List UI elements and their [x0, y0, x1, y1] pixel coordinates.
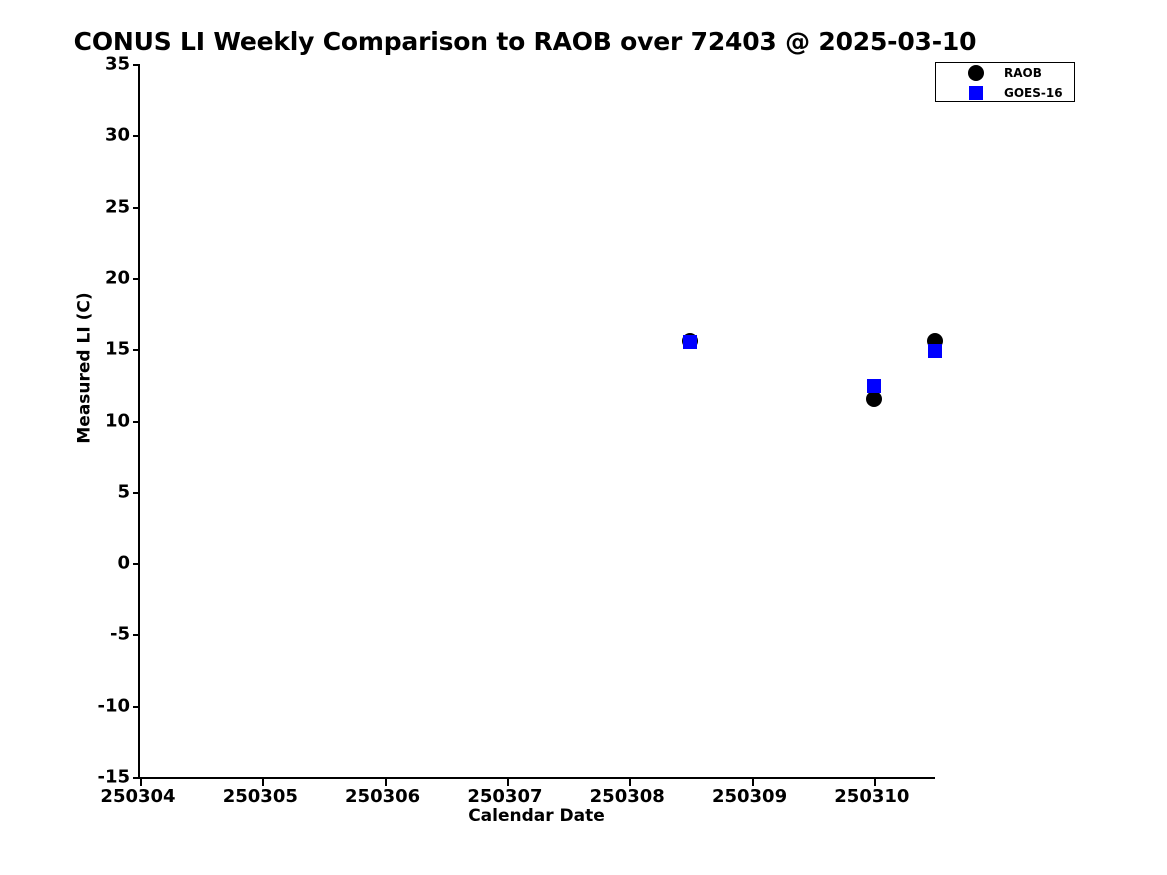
y-axis-tick	[133, 278, 140, 280]
x-axis-tick	[507, 779, 509, 786]
x-axis-tick	[262, 779, 264, 786]
x-axis-tick	[629, 779, 631, 786]
chart-page: CONUS LI Weekly Comparison to RAOB over …	[0, 0, 1167, 875]
y-axis-tick-label: -15	[97, 767, 130, 788]
y-axis-tick-label: 25	[105, 196, 130, 217]
x-axis-tick	[752, 779, 754, 786]
x-axis-tick-label: 250310	[834, 786, 909, 807]
x-axis-tick	[385, 779, 387, 786]
x-axis-tick-label: 250308	[590, 786, 665, 807]
y-axis-tick-label: 30	[105, 125, 130, 146]
x-axis-tick	[874, 779, 876, 786]
y-axis-tick-label: -5	[110, 624, 130, 645]
x-axis-tick-label: 250306	[345, 786, 420, 807]
y-axis-tick	[133, 64, 140, 66]
y-axis-tick	[133, 777, 140, 779]
y-axis-tick	[133, 135, 140, 137]
plot-area	[138, 64, 935, 779]
legend-label: GOES-16	[1004, 86, 1063, 100]
y-axis-tick	[133, 421, 140, 423]
x-axis-tick-label: 250309	[712, 786, 787, 807]
legend-item-raob: RAOB	[936, 63, 1074, 83]
data-point-goes-16	[683, 335, 697, 349]
legend-marker-wrap	[964, 83, 988, 103]
x-axis-tick-label: 250305	[223, 786, 298, 807]
data-point-goes-16	[928, 344, 942, 358]
page-title: CONUS LI Weekly Comparison to RAOB over …	[0, 27, 1050, 56]
data-point-goes-16	[867, 379, 881, 393]
legend-square-icon	[969, 86, 983, 100]
x-axis-label: Calendar Date	[138, 806, 935, 826]
x-axis-tick-label: 250304	[100, 786, 175, 807]
legend-circle-icon	[968, 65, 984, 81]
data-point-raob	[866, 391, 882, 407]
y-axis-tick-label: 20	[105, 267, 130, 288]
y-axis-tick-label: 35	[105, 54, 130, 75]
y-axis-tick-label: 0	[117, 553, 130, 574]
legend-label: RAOB	[1004, 66, 1042, 80]
y-axis-tick	[133, 349, 140, 351]
y-axis-label: Measured LI (C)	[75, 11, 95, 726]
chart-legend: RAOBGOES-16	[935, 62, 1075, 102]
y-axis-tick-label: 5	[117, 481, 130, 502]
y-axis-tick	[133, 634, 140, 636]
y-axis-tick	[133, 706, 140, 708]
x-axis-tick	[140, 779, 142, 786]
y-axis-tick	[133, 563, 140, 565]
y-axis-tick	[133, 492, 140, 494]
y-axis-tick-label: 15	[105, 339, 130, 360]
y-axis-tick-label: -10	[97, 695, 130, 716]
x-axis-tick-label: 250307	[467, 786, 542, 807]
y-axis-tick	[133, 207, 140, 209]
y-axis-tick-label: 10	[105, 410, 130, 431]
legend-marker-wrap	[964, 63, 988, 83]
legend-item-goes-16: GOES-16	[936, 83, 1074, 103]
